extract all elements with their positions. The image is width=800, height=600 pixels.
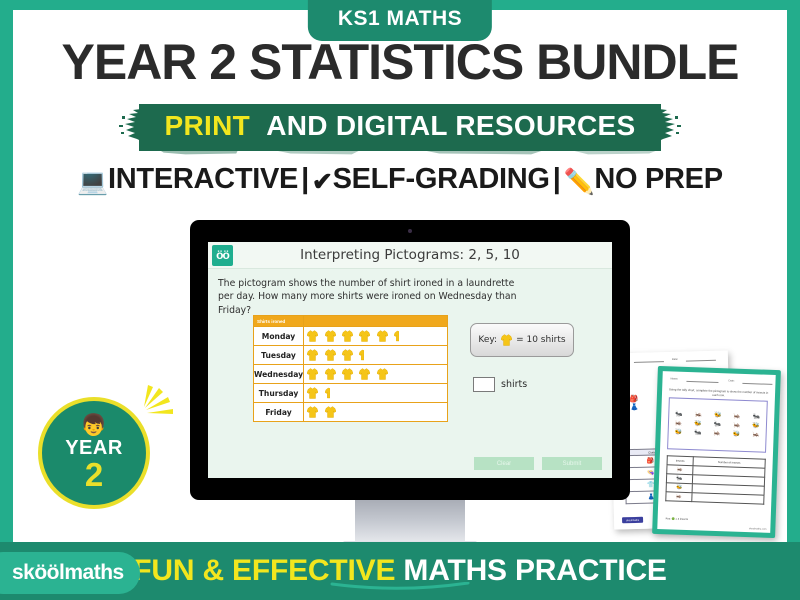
underline-swoosh-icon xyxy=(330,582,470,592)
year-badge-circle: 👦 YEAR 2 xyxy=(38,397,150,509)
shirt-half-icon xyxy=(325,387,330,399)
brush-left-decoration xyxy=(119,107,141,143)
shirt-icon xyxy=(325,368,336,380)
pictogram-key-box: Key: = 10 shirts xyxy=(470,323,574,357)
insect-icon: 🐝 xyxy=(752,422,760,431)
slide-header: öö Interpreting Pictograms: 2, 5, 10 xyxy=(208,242,612,269)
feature-separator-1: | xyxy=(298,163,312,195)
feature-label-no-prep: NO PREP xyxy=(594,163,722,195)
worksheet-back-date-line xyxy=(686,360,716,362)
footer-bar: FUN & EFFECTIVE MATHS PRACTICE sköölmath… xyxy=(0,542,800,600)
shirt-half-icon xyxy=(359,349,364,361)
insect-icon: 🐜 xyxy=(753,413,761,422)
pictogram-icons-monday xyxy=(304,327,448,346)
pictogram-day-thursday: Thursday xyxy=(254,384,304,403)
poster-canvas: KS1 MATHS YEAR 2 STATISTICS BUNDLE xyxy=(0,0,800,600)
banner-highlight: PRINT xyxy=(165,110,251,141)
slide-body: The pictogram shows the number of shirt … xyxy=(208,269,612,478)
ks-level-tab: KS1 MATHS xyxy=(308,0,492,41)
monitor-stand-neck xyxy=(355,500,465,544)
insect-icon: 🐝 xyxy=(694,420,702,429)
pictogram-day-wednesday: Wednesday xyxy=(254,365,304,384)
frame-left-border xyxy=(0,0,13,600)
shirt-icon xyxy=(342,330,353,342)
insect-icon: 🐜 xyxy=(694,429,702,438)
answer-unit-label: shirts xyxy=(501,379,527,390)
insect-icon: 🐝 xyxy=(733,430,741,439)
table-row: Monday xyxy=(254,327,448,346)
pictogram-icons-tuesday xyxy=(304,346,448,365)
pictogram-day-monday: Monday xyxy=(254,327,304,346)
shirt-icon xyxy=(325,330,336,342)
feature-list: 💻INTERACTIVE|✔SELF-GRADING|✏️NO PREP xyxy=(0,163,800,197)
monitor-frame: öö Interpreting Pictograms: 2, 5, 10 The… xyxy=(190,220,630,500)
shirt-icon xyxy=(377,330,388,342)
shirt-half-icon xyxy=(394,330,399,342)
insect-icon: 🐝 xyxy=(714,411,722,420)
pictogram-icons-wednesday xyxy=(304,365,448,384)
key-equals-text: = 10 shirts xyxy=(516,335,566,345)
pictogram-icons-thursday xyxy=(304,384,448,403)
clear-button[interactable]: Clear xyxy=(474,457,534,470)
shirt-icon xyxy=(325,406,336,418)
shirt-icon xyxy=(307,387,318,399)
shirt-icon xyxy=(307,368,318,380)
worksheet-front-table: Insects Number of insects 🦗 🐜 🐝 🦗 xyxy=(665,455,766,504)
insect-icon: 🐜 xyxy=(675,410,683,419)
shirt-icon xyxy=(307,330,318,342)
worksheet-front-key-label: Key: xyxy=(666,517,671,520)
worksheet-front-date-line xyxy=(742,383,772,385)
insect-icon: 🦗 xyxy=(752,431,760,440)
frame-right-border xyxy=(787,0,800,600)
laptop-icon: 💻 xyxy=(77,168,108,196)
brush-bottom-decoration xyxy=(133,150,693,157)
webcam-icon xyxy=(408,229,412,233)
slide-title: Interpreting Pictograms: 2, 5, 10 xyxy=(208,247,612,263)
shirt-icon xyxy=(342,349,353,361)
worksheet-back-name-line xyxy=(634,361,664,363)
worksheet-front-name-label: Name: xyxy=(670,377,678,380)
feature-label-interactive: INTERACTIVE xyxy=(108,163,298,195)
brush-right-decoration xyxy=(659,107,681,143)
pictogram-header-label: Shirts ironed xyxy=(254,316,304,327)
slide-button-group: Clear Submit xyxy=(474,457,602,470)
worksheet-front: Name: Date: Using the tally chart, compl… xyxy=(652,366,781,538)
shirt-icon xyxy=(342,368,353,380)
pictogram-header-blank xyxy=(304,316,448,327)
key-label: Key: xyxy=(478,335,497,345)
question-text: The pictogram shows the number of shirt … xyxy=(218,277,518,317)
shirt-icon xyxy=(307,349,318,361)
clothing-item: 👗 xyxy=(630,403,639,411)
year-number: 2 xyxy=(85,459,103,490)
clothing-item: 🎒 xyxy=(630,395,639,403)
insect-row-value xyxy=(692,493,764,505)
resources-banner: PRINT AND DIGITAL RESOURCES xyxy=(0,104,800,151)
shirt-icon xyxy=(359,330,370,342)
submit-button[interactable]: Submit xyxy=(542,457,602,470)
feature-label-self-grading: SELF-GRADING xyxy=(333,163,550,195)
table-row: Thursday xyxy=(254,384,448,403)
shirt-icon xyxy=(501,334,512,346)
shirt-icon xyxy=(359,368,370,380)
insect-icon: 🦗 xyxy=(694,411,702,420)
check-icon: ✔ xyxy=(312,168,333,196)
feature-separator-2: | xyxy=(550,163,564,195)
insect-icon: 🐝 xyxy=(674,428,682,437)
banner-rest-text: AND DIGITAL RESOURCES xyxy=(266,110,635,141)
insect-icon: 🦗 xyxy=(675,419,683,428)
pencil-icon: ✏️ xyxy=(564,168,595,196)
table-row: Wednesday xyxy=(254,365,448,384)
insect-row-icon: 🦗 xyxy=(666,492,692,502)
insect-icon: 🐜 xyxy=(714,420,722,429)
skoolmaths-logo: sköölmaths xyxy=(0,552,140,594)
table-row: Friday xyxy=(254,403,448,422)
worksheet-front-footer: skoolmaths.com xyxy=(749,527,766,531)
pictogram-day-friday: Friday xyxy=(254,403,304,422)
worksheet-front-date-label: Date: xyxy=(728,379,734,382)
worksheet-front-insect-grid: 🐜 🦗 🐝 🦗 🐜 🦗 🐝 🐜 🦗 🐝 🐝 🐜 🦗 🐝 🦗 xyxy=(667,397,768,452)
answer-input[interactable] xyxy=(473,377,495,392)
insect-icon: 🦗 xyxy=(733,412,741,421)
answer-row: shirts xyxy=(473,377,527,392)
pictogram-day-tuesday: Tuesday xyxy=(254,346,304,365)
page-title: YEAR 2 STATISTICS BUNDLE xyxy=(0,36,800,89)
child-icon: 👦 xyxy=(81,415,107,436)
year-badge: 👦 YEAR 2 xyxy=(28,385,178,515)
lesson-slide: öö Interpreting Pictograms: 2, 5, 10 The… xyxy=(208,242,612,478)
worksheet-front-key-icon: 🟢 xyxy=(672,517,675,520)
shirt-icon xyxy=(307,406,318,418)
worksheet-front-key-value: = 4 insects xyxy=(675,518,688,521)
worksheet-front-key: Key: 🟢 = 4 insects xyxy=(666,517,688,521)
pictogram-icons-friday xyxy=(304,403,448,422)
shirt-icon xyxy=(377,368,388,380)
worksheet-back-date-label: Date: xyxy=(672,358,678,361)
banner-rest xyxy=(258,110,266,141)
table-row: Tuesday xyxy=(254,346,448,365)
insect-icon: 🦗 xyxy=(713,429,721,438)
insect-icon: 🦗 xyxy=(733,421,741,430)
shirt-icon xyxy=(325,349,336,361)
worksheet-front-name-line xyxy=(686,381,718,383)
pictogram-table: Shirts ironed Monday xyxy=(253,315,448,422)
worksheet-back-brand: skoolmaths xyxy=(622,517,643,524)
